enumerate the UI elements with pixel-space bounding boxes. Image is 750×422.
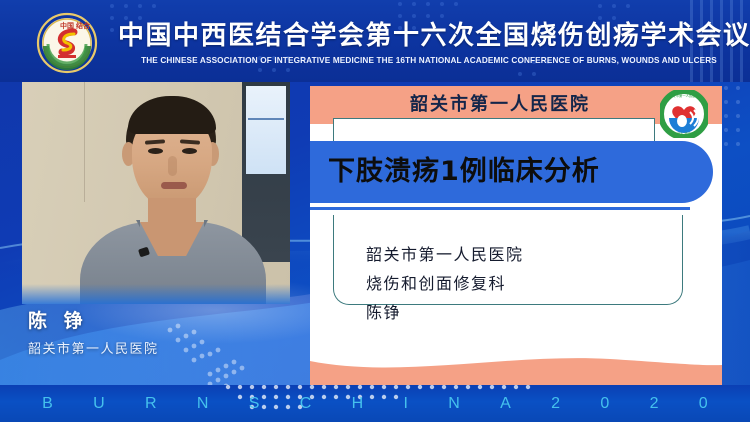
footer-letter: S bbox=[249, 395, 260, 413]
svg-text:韶关市第一人民医院: 韶关市第一人民医院 bbox=[669, 93, 700, 98]
speaker-mouth bbox=[161, 182, 187, 189]
slide-body-line-3: 陈铮 bbox=[366, 298, 686, 327]
speaker-video-feed[interactable] bbox=[22, 82, 290, 304]
slide-body-text: 韶关市第一人民医院 烧伤和创面修复科 陈铮 bbox=[366, 240, 686, 327]
footer-letter: N bbox=[197, 395, 209, 413]
slide-title-underline bbox=[310, 207, 690, 210]
association-emblem-icon: 中国 结合 bbox=[36, 12, 98, 74]
footer-letter: 0 bbox=[699, 395, 708, 413]
header-title-english: THE CHINESE ASSOCIATION OF INTEGRATIVE M… bbox=[118, 56, 740, 65]
footer-letter: R bbox=[145, 395, 157, 413]
svg-text:济世利人 精诚至善: 济世利人 精诚至善 bbox=[671, 131, 698, 136]
video-bottom-glow bbox=[22, 284, 290, 304]
speaker-nose bbox=[168, 156, 177, 176]
slide-title-text: 下肢溃疡1例临床分析 bbox=[328, 152, 688, 192]
presentation-slide[interactable]: 韶关市第一人民医院 韶关市第一人民医院 济世利人 精诚至善 下肢溃疡1例临床分析… bbox=[310, 86, 722, 385]
speaker-eye-left bbox=[148, 148, 163, 154]
wall-panel-screen bbox=[246, 86, 286, 174]
footer-letter: I bbox=[404, 395, 408, 413]
hospital-heart-hand-logo-icon: 韶关市第一人民医院 济世利人 精诚至善 bbox=[660, 90, 708, 138]
conference-stream-screen: 中国 结合 中国中西医结合学会第十六次全国烧伤创疡学术会议 THE CHINES… bbox=[0, 0, 750, 422]
svg-text:结合: 结合 bbox=[75, 21, 91, 30]
wall-panel-line bbox=[248, 118, 284, 120]
header-title-chinese: 中国中西医结合学会第十六次全国烧伤创疡学术会议 bbox=[118, 19, 740, 53]
footer-letter: 2 bbox=[650, 395, 659, 413]
slide-bottom-wave-decoration bbox=[310, 345, 722, 385]
footer-letter: B bbox=[42, 395, 53, 413]
footer-branding-text: B U R N S C H I N A 2 0 2 0 bbox=[0, 385, 750, 422]
footer-letter: N bbox=[448, 395, 460, 413]
footer-letter: H bbox=[352, 395, 364, 413]
footer-letter: U bbox=[93, 395, 105, 413]
slide-body-line-2: 烧伤和创面修复科 bbox=[366, 269, 686, 298]
slide-hospital-name: 韶关市第一人民医院 bbox=[310, 88, 690, 122]
speaker-organization-label: 韶关市第一人民医院 bbox=[28, 338, 159, 357]
speaker-eye-right bbox=[182, 148, 197, 154]
footer-letter: 0 bbox=[600, 395, 609, 413]
wall-seam-line bbox=[84, 82, 85, 202]
wall-panel bbox=[242, 82, 290, 262]
slide-body-line-1: 韶关市第一人民医院 bbox=[366, 240, 686, 269]
footer-band: B U R N S C H I N A 2 0 2 0 bbox=[0, 385, 750, 422]
speaker-name-label: 陈 铮 bbox=[28, 306, 88, 333]
footer-letter: C bbox=[300, 395, 312, 413]
footer-letter: A bbox=[500, 395, 511, 413]
footer-letter: 2 bbox=[551, 395, 560, 413]
conference-header-banner: 中国 结合 中国中西医结合学会第十六次全国烧伤创疡学术会议 THE CHINES… bbox=[0, 0, 750, 82]
